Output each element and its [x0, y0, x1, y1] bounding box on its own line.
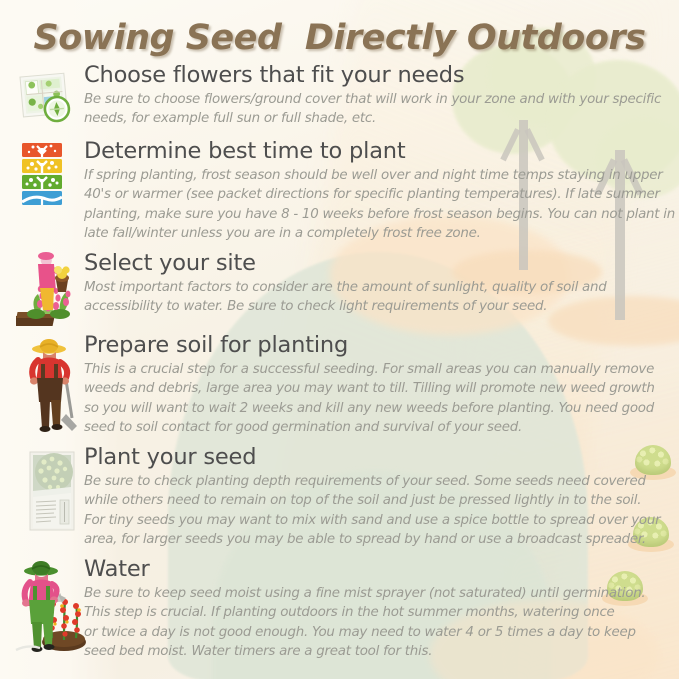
body-line: accessibility to water. Be sure to check… — [84, 297, 668, 316]
garden-plan-map-icon — [6, 62, 84, 63]
body-line: seed to soil contact for good germinatio… — [84, 418, 668, 437]
body-line: 40's or warmer (see packet directions fo… — [84, 185, 675, 204]
four-seasons-icon — [6, 138, 84, 139]
section-heading: Select your site — [84, 250, 668, 277]
section-determine-time: Determine best time to plant If spring p… — [6, 138, 674, 244]
body-line: late fall/winter unless you are in a com… — [84, 224, 675, 243]
section-plant-seed: Plant your seed Be sure to check plantin… — [6, 444, 674, 550]
section-prepare-soil: Prepare soil for planting This is a cruc… — [6, 332, 674, 438]
gardener-with-shovel-icon — [6, 332, 84, 333]
section-heading: Plant your seed — [84, 444, 668, 471]
section-select-site: Select your site Most important factors … — [6, 250, 674, 317]
section-text: Plant your seed Be sure to check plantin… — [84, 444, 674, 550]
body-line: while others need to remain on top of th… — [84, 491, 668, 510]
section-text: Prepare soil for planting This is a cruc… — [84, 332, 674, 438]
page-title: Sowing Seed Directly Outdoors — [0, 18, 679, 58]
body-line: weeds and debris, large area you may wan… — [84, 379, 668, 398]
infographic-poster: Sowing Seed Directly Outdoors — [0, 0, 679, 679]
body-line: If spring planting, frost season should … — [84, 166, 675, 185]
body-line: area, for larger seeds you may be able t… — [84, 530, 668, 549]
body-line: needs, for example full sun or full shad… — [84, 109, 668, 128]
section-heading: Prepare soil for planting — [84, 332, 668, 359]
section-body: Be sure to check planting depth requirem… — [84, 472, 668, 550]
body-line: For tiny seeds you may want to mix with … — [84, 511, 668, 530]
section-heading: Choose flowers that fit your needs — [84, 62, 668, 89]
body-line: so you will want to wait 2 weeks and kil… — [84, 399, 668, 418]
body-line: planting, make sure you have 8 - 10 week… — [84, 205, 675, 224]
section-text: Choose flowers that fit your needs Be su… — [84, 62, 674, 129]
gardener-watering-can-icon — [6, 556, 84, 557]
body-line: or twice a day is not good enough. You m… — [84, 623, 668, 642]
section-heading: Water — [84, 556, 668, 583]
section-heading: Determine best time to plant — [84, 138, 675, 165]
section-water: Water Be sure to keep seed moist using a… — [6, 556, 674, 662]
body-line: This step is crucial. If planting outdoo… — [84, 603, 668, 622]
section-body: Most important factors to consider are t… — [84, 278, 668, 317]
body-line: Be sure to check planting depth requirem… — [84, 472, 668, 491]
seed-packet-icon — [6, 444, 84, 445]
section-body: Be sure to choose flowers/ground cover t… — [84, 90, 668, 129]
section-body: This is a crucial step for a successful … — [84, 360, 668, 438]
body-line: seed bed moist. Water timers are a great… — [84, 642, 668, 661]
section-text: Water Be sure to keep seed moist using a… — [84, 556, 674, 662]
section-body: Be sure to keep seed moist using a fine … — [84, 584, 668, 662]
body-line: Be sure to choose flowers/ground cover t… — [84, 90, 668, 109]
gardener-flowerbed-icon — [6, 250, 84, 251]
section-text: Determine best time to plant If spring p… — [84, 138, 679, 244]
body-line: Be sure to keep seed moist using a fine … — [84, 584, 668, 603]
body-line: This is a crucial step for a successful … — [84, 360, 668, 379]
section-text: Select your site Most important factors … — [84, 250, 674, 317]
section-choose-flowers: Choose flowers that fit your needs Be su… — [6, 62, 674, 129]
section-body: If spring planting, frost season should … — [84, 166, 675, 244]
body-line: Most important factors to consider are t… — [84, 278, 668, 297]
